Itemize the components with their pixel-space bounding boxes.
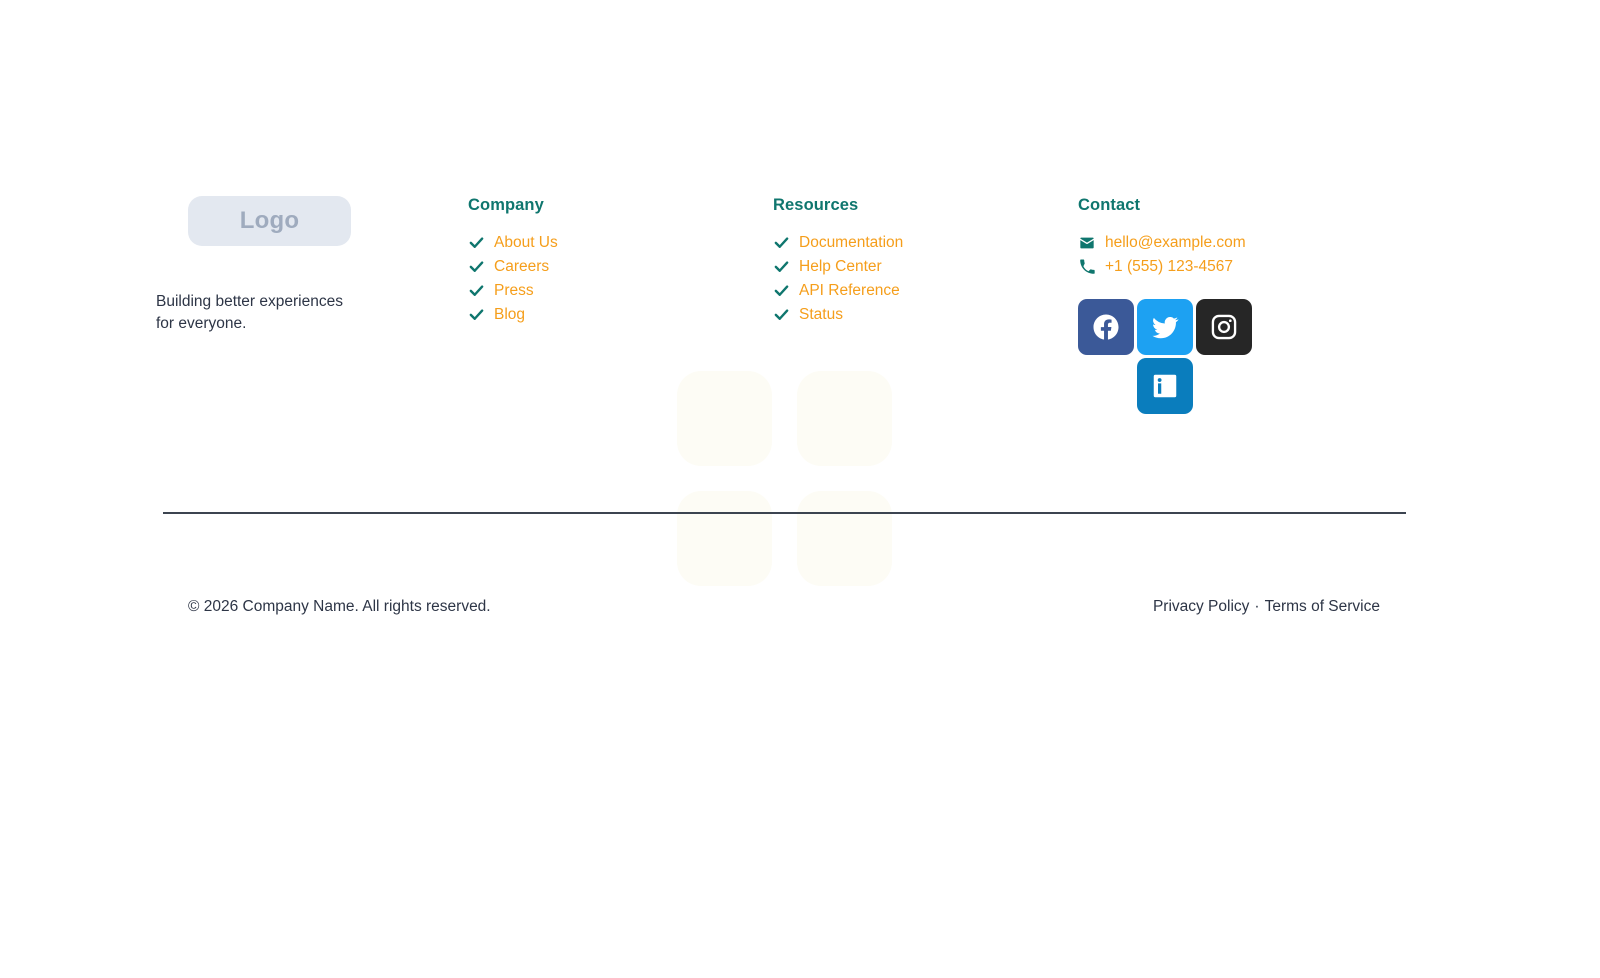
- resources-link-status[interactable]: Status: [799, 307, 843, 323]
- brand-column: Logo Building better experiences for eve…: [163, 196, 468, 336]
- company-column: Company About Us Careers: [468, 196, 773, 328]
- list-item[interactable]: Press: [468, 280, 773, 301]
- company-column-title: Company: [468, 196, 773, 215]
- privacy-policy-link[interactable]: Privacy Policy: [1153, 598, 1249, 616]
- list-item[interactable]: Careers: [468, 256, 773, 277]
- social-link-twitter[interactable]: [1137, 299, 1193, 355]
- check-icon: [468, 258, 485, 275]
- footer-page: Logo Building better experiences for eve…: [0, 0, 1600, 978]
- check-icon: [468, 306, 485, 323]
- list-item[interactable]: Documentation: [773, 232, 1078, 253]
- list-item[interactable]: +1 (555) 123-4567: [1078, 256, 1383, 277]
- check-icon: [468, 282, 485, 299]
- company-link-about-us[interactable]: About Us: [494, 235, 558, 251]
- contact-list: hello@example.com +1 (555) 123-4567: [1078, 232, 1383, 277]
- list-item[interactable]: Status: [773, 304, 1078, 325]
- check-icon: [468, 234, 485, 251]
- envelope-icon: [1078, 234, 1095, 251]
- decorative-squares-layer: [0, 0, 1600, 978]
- legal-links: Privacy Policy · Terms of Service: [1153, 598, 1406, 616]
- legal-separator: ·: [1254, 598, 1259, 616]
- logo-placeholder[interactable]: Logo: [188, 196, 351, 246]
- resources-link-api-reference[interactable]: API Reference: [799, 283, 900, 299]
- contact-phone[interactable]: +1 (555) 123-4567: [1105, 259, 1233, 275]
- social-links: [1078, 299, 1252, 414]
- footer-divider: [163, 512, 1406, 514]
- terms-of-service-link[interactable]: Terms of Service: [1265, 598, 1380, 616]
- company-link-press[interactable]: Press: [494, 283, 534, 299]
- resources-link-documentation[interactable]: Documentation: [799, 235, 903, 251]
- brand-tagline: Building better experiences for everyone…: [156, 291, 356, 336]
- list-item[interactable]: API Reference: [773, 280, 1078, 301]
- contact-column: Contact hello@example.com +1 (555) 123-4…: [1078, 196, 1383, 414]
- social-link-facebook[interactable]: [1078, 299, 1134, 355]
- contact-column-title: Contact: [1078, 196, 1383, 215]
- social-link-instagram[interactable]: [1196, 299, 1252, 355]
- footer-main: Logo Building better experiences for eve…: [163, 196, 1406, 414]
- social-link-linkedin[interactable]: [1137, 358, 1193, 414]
- resources-link-help-center[interactable]: Help Center: [799, 259, 882, 275]
- check-icon: [773, 306, 790, 323]
- company-link-blog[interactable]: Blog: [494, 307, 525, 323]
- footer-columns: Logo Building better experiences for eve…: [163, 196, 1406, 414]
- list-item[interactable]: About Us: [468, 232, 773, 253]
- list-item[interactable]: hello@example.com: [1078, 232, 1383, 253]
- phone-icon: [1078, 258, 1095, 275]
- resources-link-list: Documentation Help Center API Reference: [773, 232, 1078, 325]
- decorative-square: [677, 491, 772, 586]
- resources-column: Resources Documentation Help Center: [773, 196, 1078, 328]
- check-icon: [773, 258, 790, 275]
- resources-column-title: Resources: [773, 196, 1078, 215]
- decorative-square: [797, 491, 892, 586]
- logo-label: Logo: [240, 207, 299, 235]
- company-link-list: About Us Careers Press: [468, 232, 773, 325]
- list-item[interactable]: Blog: [468, 304, 773, 325]
- check-icon: [773, 234, 790, 251]
- company-link-careers[interactable]: Careers: [494, 259, 549, 275]
- contact-email[interactable]: hello@example.com: [1105, 235, 1246, 251]
- check-icon: [773, 282, 790, 299]
- copyright-text: © 2026 Company Name. All rights reserved…: [163, 598, 491, 616]
- footer-bottom-bar: © 2026 Company Name. All rights reserved…: [163, 598, 1406, 616]
- list-item[interactable]: Help Center: [773, 256, 1078, 277]
